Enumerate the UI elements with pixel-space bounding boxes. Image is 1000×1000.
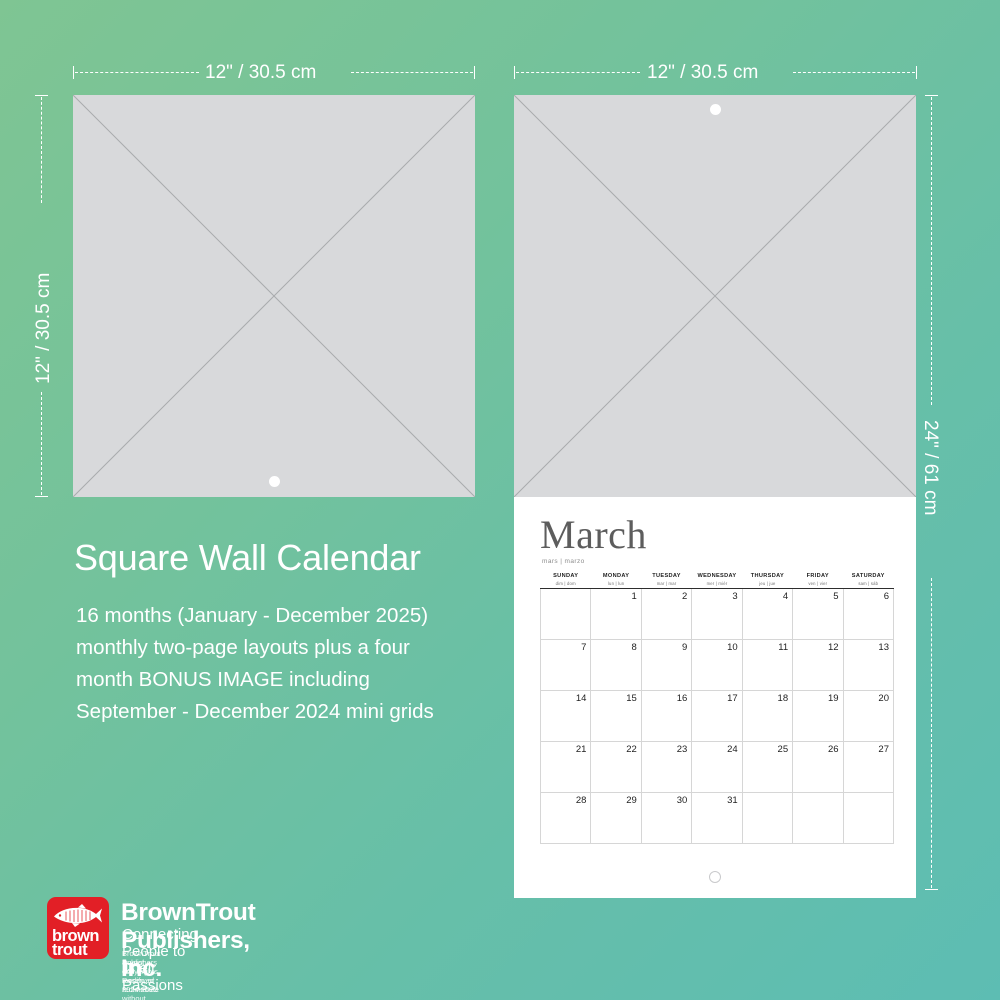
calendar-day-cell: 5 [793,589,843,640]
day-name: SATURDAY [843,573,893,581]
dimension-dash [41,97,42,203]
image-placeholder-right [514,95,916,497]
day-name-translations: dim | dom [541,581,591,586]
day-name: SUNDAY [541,573,591,581]
product-description: 16 months (January - December 2025) mont… [76,600,516,728]
day-name-translations: sam | sáb [843,581,893,586]
calendar-day-cell: 13 [843,640,893,691]
calendar-day-cell: 10 [692,640,742,691]
calendar-day-cell: 29 [591,793,641,844]
dimension-dash [931,97,932,405]
product-listing-image: 12" / 30.5 cm 12" / 30.5 cm 12" / 30.5 c… [0,0,1000,1000]
dimension-dash [75,72,199,73]
day-name: TUESDAY [641,573,691,581]
calendar-day-cell: 19 [793,691,843,742]
calendar-day-cell: 30 [641,793,691,844]
calendar-day-cell: 16 [641,691,691,742]
dimension-cap [73,66,74,79]
day-name-translations: mer | miér [692,581,742,586]
dimension-cap [514,66,515,79]
dimension-cap [474,66,475,79]
calendar-day-cell: 26 [793,742,843,793]
dimension-dash [41,392,42,495]
description-line: monthly two-page layouts plus a four [76,632,516,664]
calendar-day-cell: 31 [692,793,742,844]
calendar-week-row: 7 8 9 10 11 12 13 [541,640,894,691]
calendar-day-cell: 25 [742,742,792,793]
dimension-label-left-side: 12" / 30.5 cm [33,273,55,384]
calendar-day-cell: 1 [591,589,641,640]
day-name-translations: jeu | jue [742,581,792,586]
dimension-dash [793,72,915,73]
placeholder-cross-icon [514,95,916,497]
calendar-day-cell: 22 [591,742,641,793]
calendar-day-cell [541,589,591,640]
calendar-month-translations: mars | marzo [542,558,894,565]
calendar-day-header: WEDNESDAY mer | miér [692,572,742,589]
calendar-day-header: THURSDAY jeu | jue [742,572,792,589]
trout-fish-icon [52,903,104,928]
dimension-cap [925,95,938,96]
calendar-day-cell: 28 [541,793,591,844]
placeholder-cross-icon [73,95,475,497]
image-placeholder-left [73,95,475,497]
description-line: September - December 2024 mini grids [76,696,516,728]
punch-hole [710,104,721,115]
calendar-day-cell [793,793,843,844]
day-name-translations: lun | lun [591,581,641,586]
calendar-day-cell: 14 [541,691,591,742]
calendar-day-cell: 17 [692,691,742,742]
description-line: 16 months (January - December 2025) [76,600,516,632]
browntrout-logo: brown trout [47,897,109,959]
description-line: month BONUS IMAGE including [76,664,516,696]
calendar-day-cell: 6 [843,589,893,640]
calendar-day-header: TUESDAY mar | mar [641,572,691,589]
calendar-grid: SUNDAY dim | dom MONDAY lun | lun TUESDA… [540,572,894,844]
calendar-week-row: 21 22 23 24 25 26 27 [541,742,894,793]
calendar-day-cell: 7 [541,640,591,691]
punch-hole [709,871,721,883]
calendar-day-cell: 12 [793,640,843,691]
calendar-week-row: 28 29 30 31 [541,793,894,844]
day-name: FRIDAY [793,573,843,581]
dimension-dash [931,578,932,888]
logo-word-trout: trout [52,942,87,959]
calendar-day-cell: 23 [641,742,691,793]
calendar-day-header: MONDAY lun | lun [591,572,641,589]
calendar-week-row: 14 15 16 17 18 19 20 [541,691,894,742]
day-name: WEDNESDAY [692,573,742,581]
dimension-label-right-side: 24" / 61 cm [919,420,941,515]
calendar-day-cell: 11 [742,640,792,691]
day-name-translations: mar | mar [641,581,691,586]
calendar-day-header: SUNDAY dim | dom [541,572,591,589]
dimension-dash [351,72,473,73]
dimension-label-top-left: 12" / 30.5 cm [205,62,316,84]
calendar-header-row: SUNDAY dim | dom MONDAY lun | lun TUESDA… [541,572,894,589]
day-name: MONDAY [591,573,641,581]
calendar-day-cell: 24 [692,742,742,793]
page-title: Square Wall Calendar [74,537,421,579]
dimension-label-top-right: 12" / 30.5 cm [647,62,758,84]
calendar-day-cell: 15 [591,691,641,742]
calendar-day-cell: 20 [843,691,893,742]
day-name: THURSDAY [742,573,792,581]
calendar-day-cell: 3 [692,589,742,640]
dimension-cap [35,496,48,497]
punch-hole [269,476,280,487]
dimension-cap [925,889,938,890]
calendar-month-title: March [540,515,894,555]
calendar-day-cell: 8 [591,640,641,691]
calendar-day-header: FRIDAY ven | vier [793,572,843,589]
calendar-week-row: 1 2 3 4 5 6 [541,589,894,640]
calendar-day-header: SATURDAY sam | sáb [843,572,893,589]
calendar-day-cell [843,793,893,844]
usage-restriction-line: Do not copy, modify, or redistribute wit… [122,958,160,1000]
dimension-dash [516,72,640,73]
dimension-cap [35,95,48,96]
dimension-cap [916,66,917,79]
calendar-day-cell: 9 [641,640,691,691]
calendar-day-cell: 18 [742,691,792,742]
calendar-day-cell: 2 [641,589,691,640]
calendar-day-cell: 21 [541,742,591,793]
calendar-day-cell [742,793,792,844]
calendar-day-cell: 4 [742,589,792,640]
calendar-page: March mars | marzo SUNDAY dim | dom MOND… [514,497,916,898]
calendar-day-cell: 27 [843,742,893,793]
day-name-translations: ven | vier [793,581,843,586]
